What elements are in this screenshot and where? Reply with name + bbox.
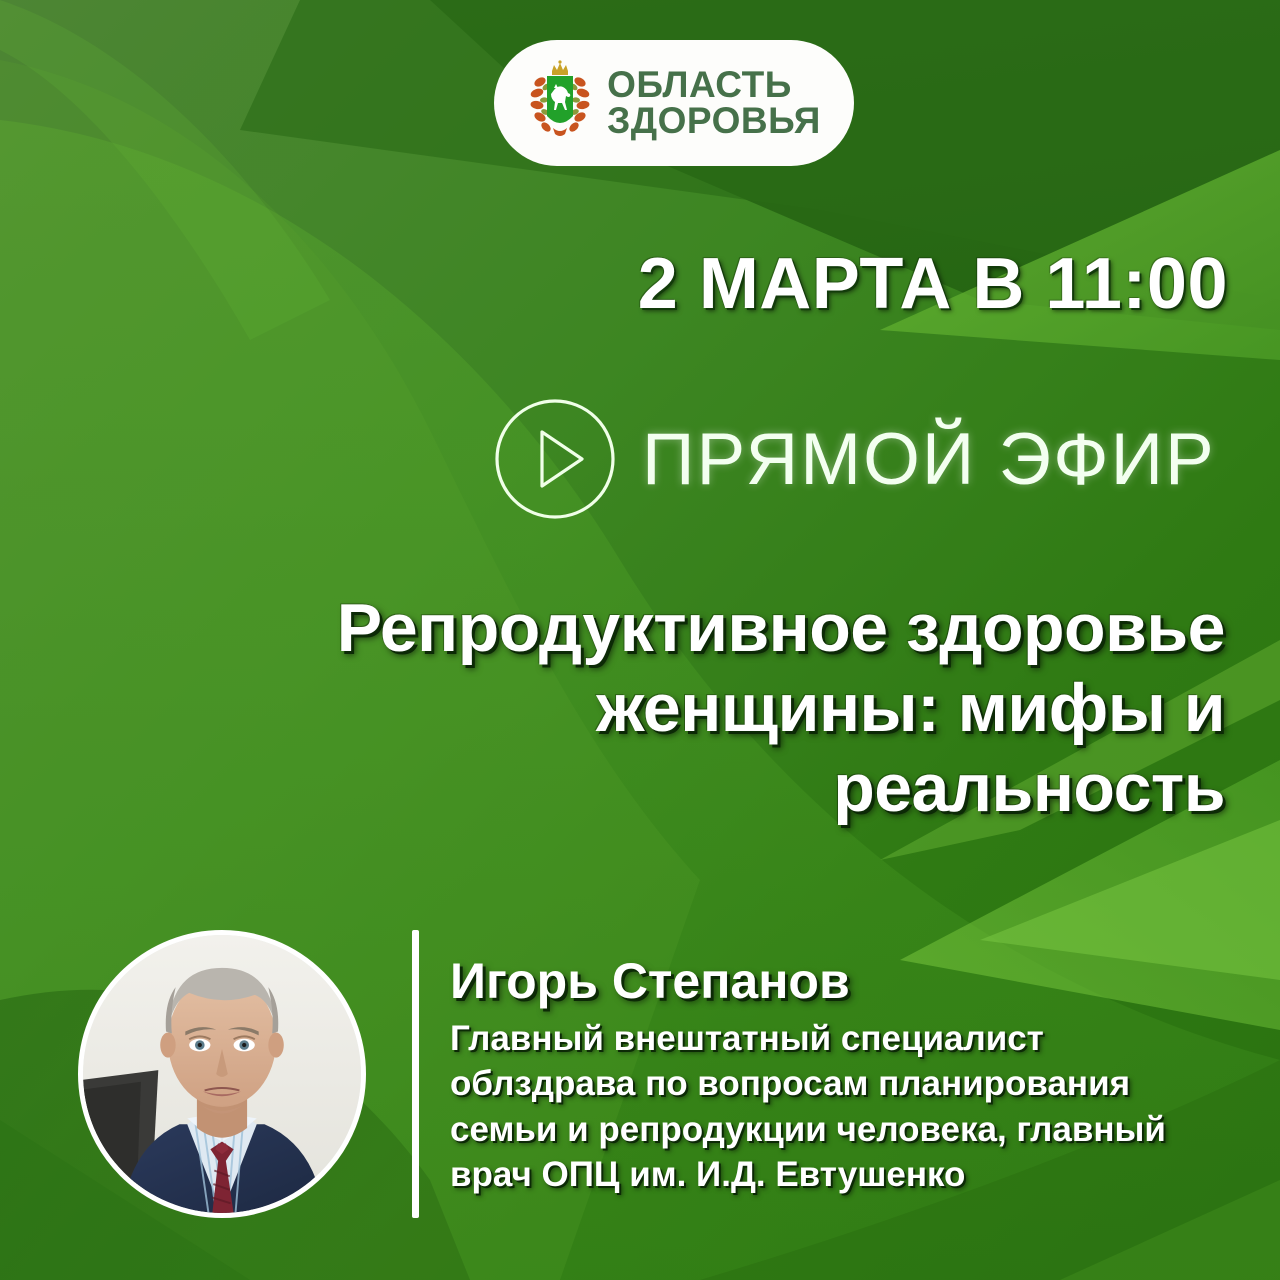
speaker-name: Игорь Степанов xyxy=(450,955,1240,1008)
avatar xyxy=(78,930,366,1218)
page-title: Репродуктивное здоровье женщины: мифы и … xyxy=(150,588,1225,829)
speaker-portrait-photo xyxy=(83,935,361,1213)
speaker-description: Главный внештатный специалист облздрава … xyxy=(450,1016,1240,1198)
title-line-3: реальность xyxy=(150,748,1225,828)
play-circle-icon xyxy=(494,398,616,520)
brand-line-1: ОБЛАСТЬ xyxy=(607,67,821,103)
brand-logo-badge: ОБЛАСТЬ ЗДОРОВЬЯ xyxy=(494,40,854,166)
speaker-desc-line-1: Главный внештатный специалист xyxy=(450,1016,1240,1062)
speaker-desc-line-3: семьи и репродукции человека, главный xyxy=(450,1107,1240,1153)
tomsk-oblast-coat-of-arms-icon xyxy=(527,60,593,146)
speaker-divider xyxy=(412,930,419,1218)
live-broadcast-poster: ОБЛАСТЬ ЗДОРОВЬЯ 2 МАРТА В 11:00 ПРЯМОЙ … xyxy=(0,0,1280,1280)
speaker-desc-line-2: облздрава по вопросам планирования xyxy=(450,1061,1240,1107)
live-broadcast-row: ПРЯМОЙ ЭФИР xyxy=(494,398,1216,520)
speaker-desc-line-4: врач ОПЦ им. И.Д. Евтушенко xyxy=(450,1152,1240,1198)
live-broadcast-label: ПРЯМОЙ ЭФИР xyxy=(642,423,1216,496)
title-line-2: женщины: мифы и xyxy=(150,668,1225,748)
broadcast-date-time: 2 МАРТА В 11:00 xyxy=(0,243,1228,325)
brand-logo-wordmark: ОБЛАСТЬ ЗДОРОВЬЯ xyxy=(607,67,821,140)
speaker-info: Игорь Степанов Главный внештатный специа… xyxy=(450,955,1240,1198)
brand-line-2: ЗДОРОВЬЯ xyxy=(607,103,821,139)
title-line-1: Репродуктивное здоровье xyxy=(150,588,1225,668)
